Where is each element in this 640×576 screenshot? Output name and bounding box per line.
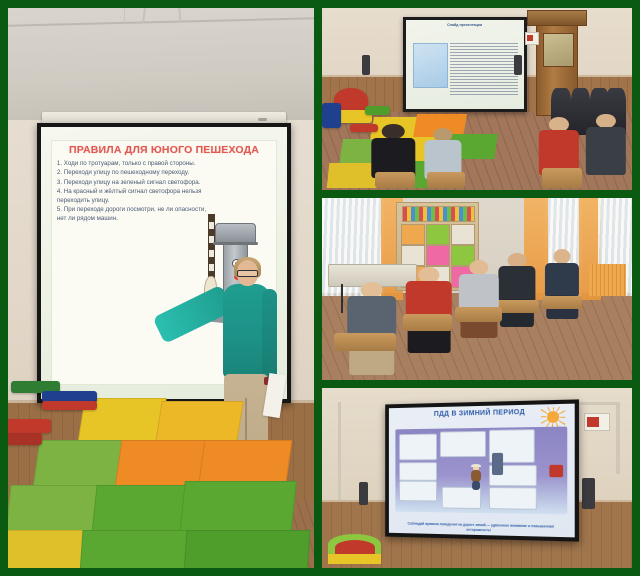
cubby-door (401, 245, 426, 266)
traffic-light-icon (492, 454, 502, 476)
chair (334, 333, 396, 351)
chair (455, 307, 502, 322)
ceiling (8, 8, 314, 126)
foam-mat-tile (8, 530, 91, 568)
slide-info-box (399, 481, 437, 502)
child-torso (585, 127, 625, 175)
foam-arch-toy (328, 530, 381, 566)
fire-alarm-panel-icon (584, 413, 611, 431)
foam-mat-tile (80, 530, 195, 568)
slide-footer-text: Соблюдай правила поведения на дороге зим… (399, 522, 563, 535)
shelf-books (402, 206, 475, 222)
slide-info-box (441, 488, 480, 510)
foam-mat-tile (184, 530, 311, 568)
child-torso (458, 274, 498, 311)
child-torso (347, 296, 397, 338)
fire-alarm-panel-icon (525, 32, 539, 45)
door-glass-panel (543, 33, 574, 68)
child-torso (499, 266, 536, 302)
photo-teacher-presenting: ПРАВИЛА ДЛЯ ЮНОГО ПЕШЕХОДА 1. Ходи по тр… (8, 8, 314, 568)
slide-body-text (450, 43, 517, 94)
glasses-icon (237, 270, 259, 277)
foam-mat-tile (32, 440, 127, 489)
child-figure (406, 267, 453, 351)
wall-socket-icon (582, 478, 594, 509)
child-figure (499, 253, 536, 326)
cubby-door (426, 224, 451, 245)
cubby-door (401, 224, 426, 245)
child-torso (545, 263, 579, 298)
ceiling-seam (124, 8, 125, 23)
wall-socket-icon (362, 55, 370, 75)
foam-mat-tile (91, 485, 190, 536)
ceiling-conduit-icon (179, 8, 183, 23)
slide-title: Слайд презентации (409, 23, 521, 27)
winter-child-illustration (468, 466, 483, 492)
foam-mat-tile (8, 485, 104, 536)
child-figure (458, 260, 498, 336)
wall-conduit-icon (616, 402, 620, 474)
soft-play-block (8, 419, 51, 433)
chair (403, 314, 453, 330)
radiator-icon (589, 264, 626, 297)
photo-children-seated-row (322, 198, 632, 380)
table-leg (341, 284, 343, 313)
projector-screen: ПДД В ЗИМНИЙ ПЕРИОД (385, 400, 579, 542)
photo-children-watching: Слайд презентации (322, 8, 632, 190)
chair (542, 168, 582, 188)
wall-conduit-icon (338, 402, 342, 499)
child-figure (347, 282, 397, 373)
child-figure (586, 114, 626, 187)
slide-rule-item: 1. Ходи по тротуарам, только с правой ст… (57, 160, 207, 169)
foam-mat-area (8, 394, 314, 568)
sun-burst-icon (541, 407, 565, 427)
soft-play-block (365, 106, 390, 115)
soft-play-block (42, 401, 97, 410)
wall-socket-icon (514, 55, 522, 75)
photo-collage: ПРАВИЛА ДЛЯ ЮНОГО ПЕШЕХОДА 1. Ходи по тр… (0, 0, 640, 576)
presentation-slide: ПДД В ЗИМНИЙ ПЕРИОД (389, 404, 575, 538)
photo-winter-rules-slide: ПДД В ЗИМНИЙ ПЕРИОД (322, 388, 632, 568)
door-transom (527, 10, 588, 27)
teacher-lowered-arm (262, 289, 277, 383)
projector-screen: Слайд презентации (403, 17, 527, 112)
wall-socket-icon (359, 482, 368, 505)
ceiling-conduit-icon (8, 17, 314, 26)
slide-rule-item: 5. При переходе дороги посмотри, не ли о… (57, 206, 207, 224)
foam-mat-tile (180, 481, 298, 535)
slide-rules-list: 1. Ходи по тротуарам, только с правой ст… (57, 160, 207, 224)
slide-title: ПРАВИЛА ДЛЯ ЮНОГО ПЕШЕХОДА (57, 145, 271, 157)
slide-info-box (399, 462, 437, 481)
slide-illustration-canvas (396, 427, 567, 515)
slide-info-box (440, 432, 486, 458)
chair (427, 172, 464, 188)
slide-illustration (413, 43, 448, 88)
slide-rule-item: 2. Переходи улицу по пешеходному переход… (57, 169, 207, 178)
presentation-slide: Слайд презентации (406, 20, 524, 109)
soft-play-block (322, 103, 341, 128)
soft-play-block (8, 433, 42, 445)
cubby-door (451, 224, 476, 245)
chair (542, 296, 582, 309)
chair (496, 300, 539, 313)
chair (375, 172, 415, 188)
slide-info-box (399, 434, 437, 461)
traffic-light-icon (549, 466, 564, 478)
slide-info-box (489, 487, 537, 510)
slide-rule-item: 3. Переходи улицу на зеленый сигнал свет… (57, 179, 207, 188)
slide-rule-item: 4. На красный и жёлтый сигнал светофора … (57, 188, 207, 206)
cubby-door (426, 245, 451, 266)
